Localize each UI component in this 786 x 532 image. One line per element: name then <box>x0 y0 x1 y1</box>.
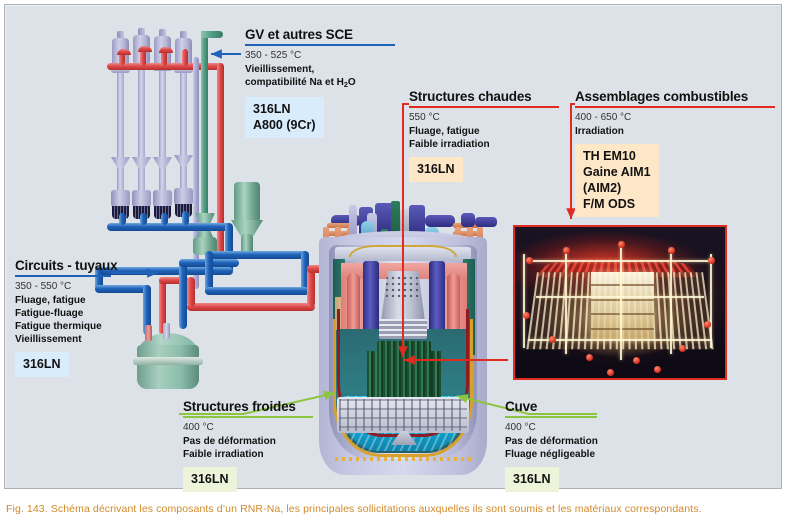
callout-structures-chaudes: Structures chaudes 550 °C Fluage, fatigu… <box>409 89 559 182</box>
callout-assemblages-combustibles: Assemblages combustibles 400 - 650 °C Ir… <box>575 89 775 217</box>
solicitation-line: Vieillissement <box>15 333 175 346</box>
solicitation-line: Fluage négligeable <box>505 448 655 461</box>
solicitation-line: Vieillissement, <box>245 63 395 76</box>
callout-cuve: Cuve 400 °C Pas de déformation Fluage né… <box>505 399 655 492</box>
callout-solicitations: Fluage, fatigue Fatigue-fluage Fatigue t… <box>15 294 175 346</box>
material-box: 316LN <box>505 467 559 492</box>
callout-rule <box>575 106 775 108</box>
material-item: F/M ODS <box>583 196 651 212</box>
solicitation-line: Faible irradiation <box>183 448 343 461</box>
material-box: TH EM10 Gaine AIM1 (AIM2) F/M ODS <box>575 144 659 217</box>
core-support-diagrid <box>337 397 469 433</box>
callout-structures-froides: Structures froides 400 °C Pas de déforma… <box>183 399 343 492</box>
callout-rule <box>15 275 111 277</box>
material-box: 316LN A800 (9Cr) <box>245 97 324 138</box>
solicitation-line: Fluage, fatigue <box>15 294 175 307</box>
material-item: A800 (9Cr) <box>253 117 316 133</box>
callout-solicitations: Irradiation <box>575 125 775 138</box>
material-item: TH EM10 <box>583 148 651 164</box>
callout-temperature: 400 °C <box>183 422 343 433</box>
material-item: 316LN <box>23 356 61 372</box>
figure-root: GV et autres SCE 350 - 525 °C Vieillisse… <box>0 0 786 532</box>
material-item: Gaine AIM1 <box>583 164 651 180</box>
callout-temperature: 400 °C <box>505 422 655 433</box>
solicitation-line: Fluage, fatigue <box>409 125 559 138</box>
solicitation-line: Fatigue-fluage <box>15 307 175 320</box>
callout-title: Structures chaudes <box>409 89 559 104</box>
material-item: 316LN <box>253 101 316 117</box>
callout-rule <box>183 416 313 418</box>
callout-solicitations: Fluage, fatigue Faible irradiation <box>409 125 559 151</box>
callout-gv-autres-sce: GV et autres SCE 350 - 525 °C Vieillisse… <box>245 27 395 138</box>
material-item: 316LN <box>417 161 455 177</box>
material-item: (AIM2) <box>583 180 651 196</box>
solicitation-line: compatibilité Na et H2O <box>245 76 395 91</box>
callout-solicitations: Pas de déformation Fluage négligeable <box>505 435 655 461</box>
material-box: 316LN <box>409 157 463 182</box>
callout-temperature: 350 - 550 °C <box>15 281 175 292</box>
callout-title: Assemblages combustibles <box>575 89 775 104</box>
fuel-assemblies-photograph <box>513 225 727 380</box>
callout-solicitations: Vieillissement, compatibilité Na et H2O <box>245 63 395 91</box>
figure-caption: Fig. 143. Schéma décrivant les composant… <box>6 503 780 515</box>
callout-circuits-tuyaux: Circuits - tuyaux 350 - 550 °C Fluage, f… <box>15 258 175 377</box>
callout-rule <box>505 416 597 418</box>
material-item: 316LN <box>513 471 551 487</box>
material-box: 316LN <box>183 467 237 492</box>
callout-temperature: 550 °C <box>409 112 559 123</box>
solicitation-line: Irradiation <box>575 125 775 138</box>
callout-solicitations: Pas de déformation Faible irradiation <box>183 435 343 461</box>
callout-title: GV et autres SCE <box>245 27 395 42</box>
callout-title: Structures froides <box>183 399 343 414</box>
callout-temperature: 400 - 650 °C <box>575 112 775 123</box>
diagram-frame: GV et autres SCE 350 - 525 °C Vieillisse… <box>4 4 782 489</box>
callout-rule <box>409 106 559 108</box>
solicitation-line: Pas de déformation <box>505 435 655 448</box>
callout-rule <box>245 44 395 46</box>
solicitation-line: Fatigue thermique <box>15 320 175 333</box>
callout-temperature: 350 - 525 °C <box>245 50 395 61</box>
callout-title: Circuits - tuyaux <box>15 258 175 273</box>
solicitation-line: Faible irradiation <box>409 138 559 151</box>
solicitation-line: Pas de déformation <box>183 435 343 448</box>
material-box: 316LN <box>15 352 69 377</box>
material-item: 316LN <box>191 471 229 487</box>
callout-title: Cuve <box>505 399 655 414</box>
